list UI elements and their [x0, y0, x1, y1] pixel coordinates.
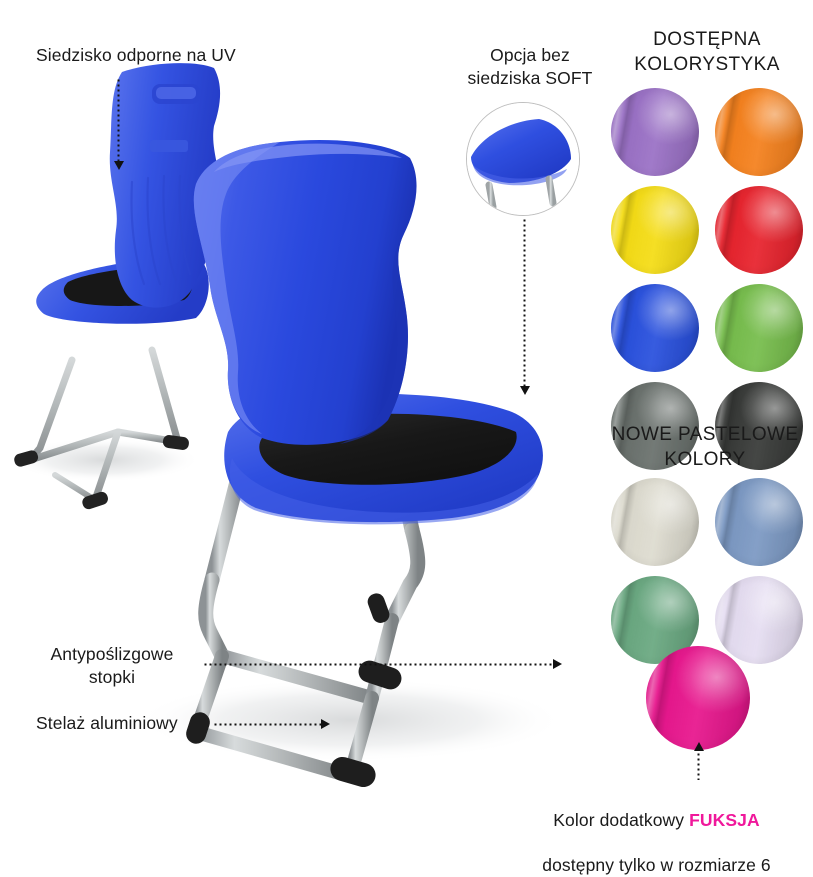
callout-aluminium-frame: Stelaż aluminiowy — [36, 712, 178, 735]
leader-line-anti-slip-feet — [203, 663, 555, 666]
swatch-czerwony[interactable] — [715, 186, 803, 274]
palette-pastel-title: NOWE PASTELOWE KOLORY — [596, 422, 813, 472]
leader-arrow-anti-slip-feet — [553, 659, 562, 669]
fuksja-caption-line2: dostępny tylko w rozmiarze 6 — [542, 855, 770, 875]
fuksja-highlight: FUKSJA — [689, 810, 760, 830]
callout-uv-seat: Siedzisko odporne na UV — [36, 44, 236, 67]
swatch-liliowy[interactable] — [715, 576, 803, 664]
leader-line-fuksja — [697, 752, 700, 780]
fuksja-caption-line1: Kolor dodatkowy FUKSJA — [553, 810, 759, 830]
swatch-zielony[interactable] — [715, 284, 803, 372]
palette-main-swatches — [601, 88, 813, 470]
swatch-niebieski[interactable] — [611, 284, 699, 372]
leader-arrow-soft-option — [520, 386, 530, 395]
leader-arrow-fuksja — [694, 742, 704, 751]
swatch-fuksja[interactable] — [646, 646, 750, 750]
fuksja-caption-prefix: Kolor dodatkowy — [553, 810, 689, 830]
swatch-fiolet[interactable] — [611, 88, 699, 176]
fuksja-caption: Kolor dodatkowy FUKSJA dostępny tylko w … — [500, 786, 813, 877]
palette-pastel-swatches — [601, 478, 813, 664]
leader-arrow-aluminium-frame — [321, 719, 330, 729]
leader-line-soft-option — [523, 218, 526, 388]
callout-soft-option: Opcja bez siedziska SOFT — [440, 44, 620, 90]
callout-anti-slip-feet: Antypoślizgowe stopki — [28, 643, 196, 689]
palette-main-title: DOSTĘPNA KOLORYSTYKA — [601, 27, 813, 77]
swatch-kremowy[interactable] — [611, 478, 699, 566]
leader-arrow-uv-seat — [114, 161, 124, 170]
swatch-pomaranczowy[interactable] — [715, 88, 803, 176]
swatch-zolty[interactable] — [611, 186, 699, 274]
soft-free-seat-detail — [466, 102, 580, 216]
swatch-blekitny[interactable] — [715, 478, 803, 566]
leader-line-aluminium-frame — [213, 723, 323, 726]
infographic-canvas: Siedzisko odporne na UV Opcja bez siedzi… — [0, 0, 813, 867]
leader-line-uv-seat — [117, 78, 120, 163]
